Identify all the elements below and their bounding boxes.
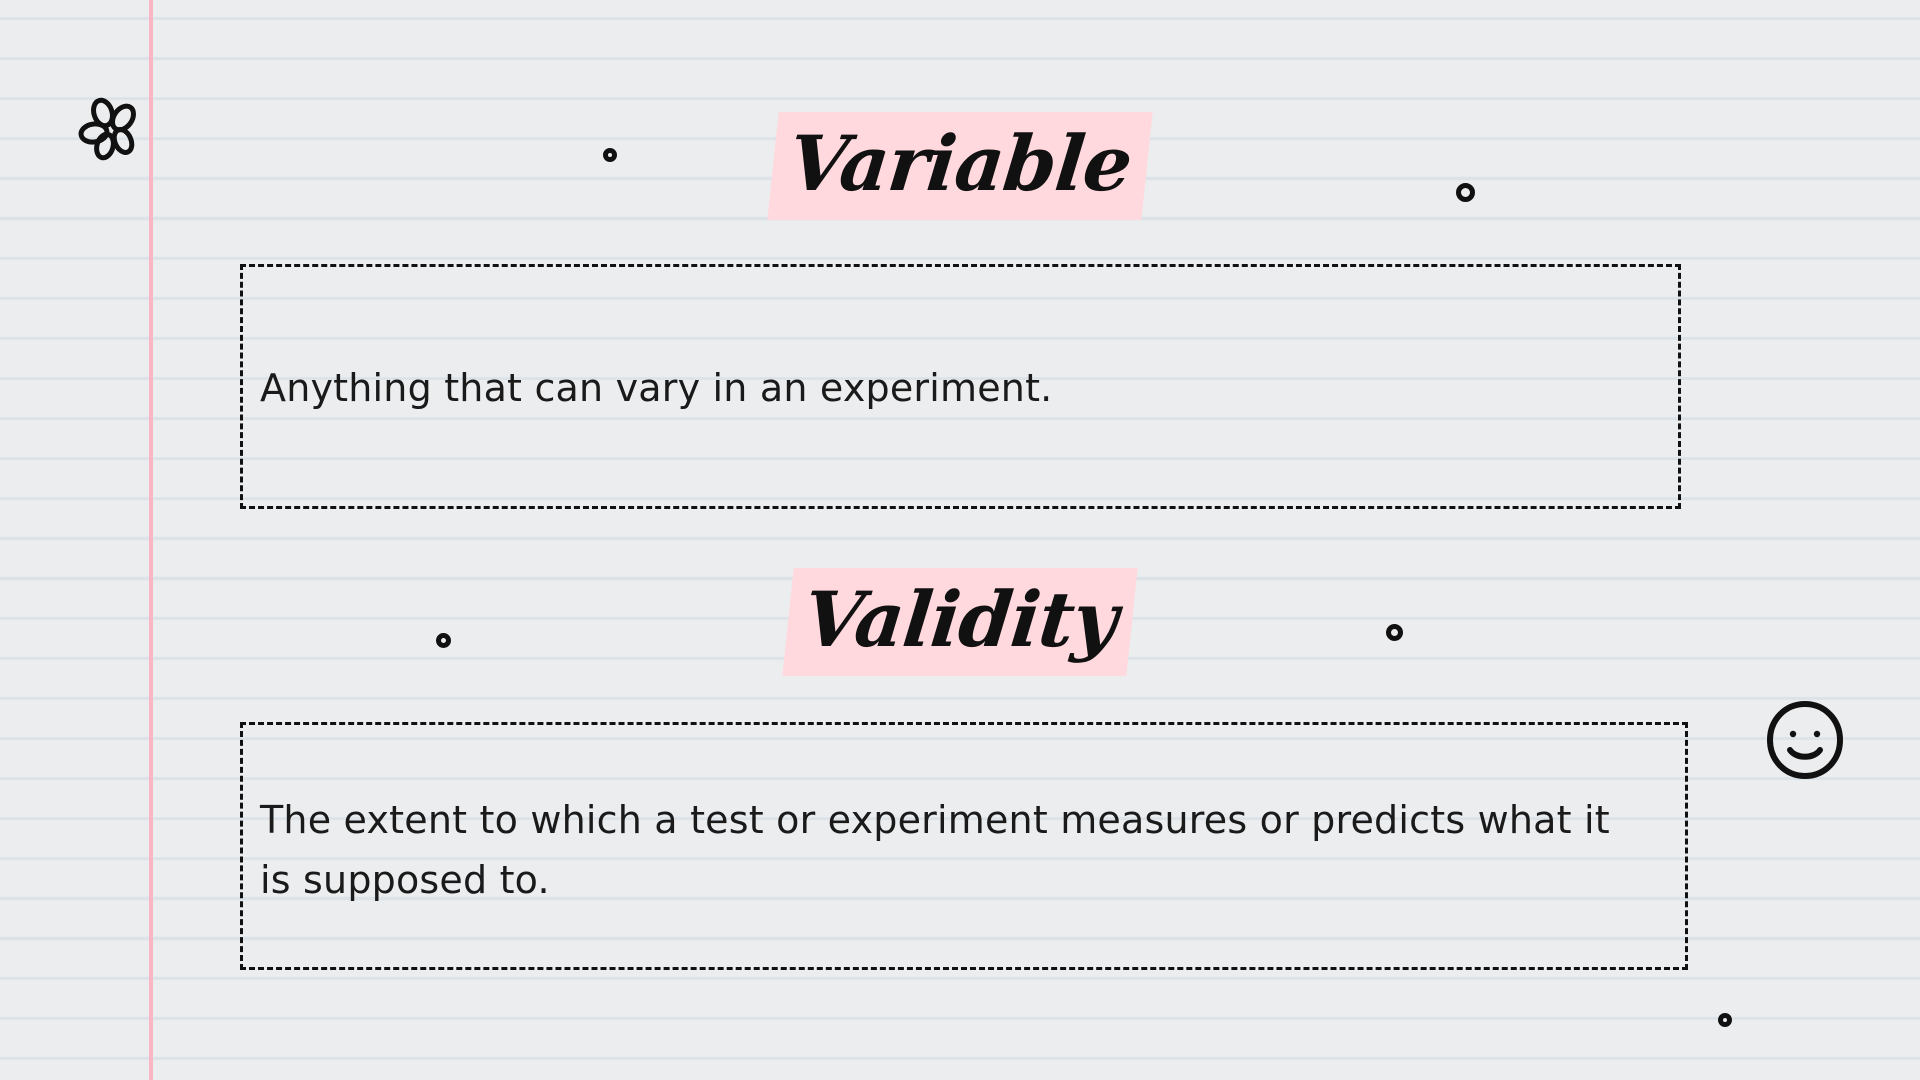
flower-icon (78, 96, 144, 162)
term-heading-text: Variable (767, 112, 1152, 220)
definition-text-variable: Anything that can vary in an experiment. (260, 358, 1660, 418)
ring-doodle (1386, 624, 1403, 641)
notebook-page: Variable Anything that can vary in an ex… (0, 0, 1920, 1080)
term-heading-text: Validity (782, 568, 1138, 676)
term-heading-validity: Validity (0, 568, 1920, 676)
ring-doodle (1718, 1013, 1732, 1027)
ring-doodle (1456, 183, 1475, 202)
ring-doodle (436, 633, 451, 648)
ring-doodle (603, 148, 617, 162)
margin-rule-line (149, 0, 153, 1080)
term-heading-variable: Variable (0, 112, 1920, 220)
smiley-face-icon (1763, 698, 1847, 782)
definition-text-validity: The extent to which a test or experiment… (260, 790, 1640, 910)
